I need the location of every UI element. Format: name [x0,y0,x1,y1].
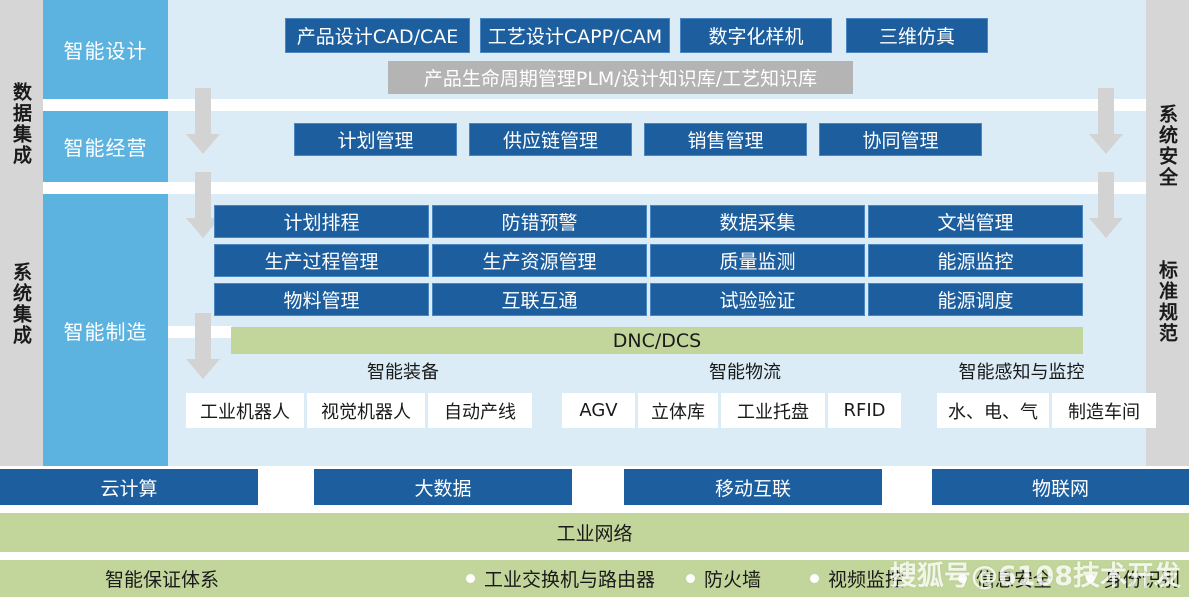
chip-rfid[interactable]: RFID [828,393,901,428]
assurance-item-switch-router-label: 工业交换机与路由器 [484,565,655,592]
bullet-dot-icon [466,574,475,583]
mfg-button-r0c2[interactable]: 数据采集 [650,205,865,238]
mfg-button-r1c1[interactable]: 生产资源管理 [432,244,647,277]
design-platform-bar[interactable]: 产品生命周期管理PLM/设计知识库/工艺知识库 [388,61,853,94]
mfg-button-r2c0-label: 物料管理 [283,286,359,313]
operation-button-sales[interactable]: 销售管理 [644,123,807,156]
mfg-button-r0c3[interactable]: 文档管理 [868,205,1083,238]
mfg-button-r1c2-label: 质量监测 [719,247,795,274]
dnc-dcs-bar-label: DNC/DCS [613,330,701,352]
chip-vision-robot[interactable]: 视觉机器人 [307,393,425,428]
infra-band-mobile-label: 移动互联 [715,474,791,501]
mfg-button-r1c0[interactable]: 生产过程管理 [214,244,429,277]
operation-button-collaboration-label: 协同管理 [862,126,938,153]
left-rail-label-data-integration: 数据集成 [8,82,35,166]
group-caption-equipment: 智能装备 [313,358,493,384]
chip-agv[interactable]: AGV [562,393,635,428]
group-caption-equipment-label: 智能装备 [367,358,439,384]
design-button-cad-label: 产品设计CAD/CAE [297,22,459,49]
chip-industrial-pallet[interactable]: 工业托盘 [721,393,825,428]
mfg-button-r2c3[interactable]: 能源调度 [868,283,1083,316]
mfg-button-r2c1[interactable]: 互联互通 [432,283,647,316]
diagram-root: 数据集成 系统集成 系统安全 标准规范 智能设计 智能经营 智能制造 [0,0,1189,597]
infra-band-bigdata[interactable]: 大数据 [314,469,572,505]
chip-rfid-label: RFID [843,400,885,421]
flow-arrow-left-3 [186,313,220,379]
bullet-dot-icon [686,574,695,583]
mfg-button-r2c1-label: 互联互通 [501,286,577,313]
network-band-label: 工业网络 [556,519,632,546]
infra-band-mobile[interactable]: 移动互联 [624,469,882,505]
watermark: 搜狐号@6108技术开发 [890,554,1181,593]
operation-button-plan[interactable]: 计划管理 [294,123,457,156]
category-label-operation: 智能经营 [64,132,148,161]
operation-button-supply-chain-label: 供应链管理 [503,126,598,153]
infra-band-bigdata-label: 大数据 [414,474,471,501]
bullet-dot-icon [810,574,819,583]
mfg-button-r0c2-label: 数据采集 [719,208,795,235]
operation-button-collaboration[interactable]: 协同管理 [819,123,982,156]
group-caption-logistics-label: 智能物流 [709,358,781,384]
flow-arrow-right-1 [1089,88,1123,154]
chip-vision-robot-label: 视觉机器人 [321,398,411,424]
infra-band-cloud-label: 云计算 [100,474,157,501]
category-tile-manufacturing[interactable]: 智能制造 [43,194,168,466]
chip-stereo-warehouse-label: 立体库 [651,398,705,424]
mfg-button-r0c1[interactable]: 防错预警 [432,205,647,238]
mfg-button-r2c2[interactable]: 试验验证 [650,283,865,316]
main-canvas: 智能设计 智能经营 智能制造 产品设计CAD/CAE 工艺设计CA [43,0,1146,466]
operation-button-supply-chain[interactable]: 供应链管理 [469,123,632,156]
right-rail-label-system-security: 系统安全 [1154,104,1181,188]
assurance-item-switch-router[interactable]: 工业交换机与路由器 [466,565,655,592]
chip-water-power-gas[interactable]: 水、电、气 [937,393,1049,428]
flow-arrow-left-1 [186,88,220,154]
category-tile-design[interactable]: 智能设计 [43,0,168,99]
assurance-item-firewall[interactable]: 防火墙 [686,565,761,592]
mfg-button-r1c0-label: 生产过程管理 [264,247,378,274]
category-label-design: 智能设计 [64,35,148,64]
mfg-button-r2c0[interactable]: 物料管理 [214,283,429,316]
infra-band-cloud[interactable]: 云计算 [0,469,258,505]
group-caption-sensing-label: 智能感知与监控 [959,358,1085,384]
mfg-button-r0c1-label: 防错预警 [501,208,577,235]
operation-button-plan-label: 计划管理 [337,126,413,153]
left-rail-label-system-integration: 系统集成 [8,262,35,346]
infra-band-iot[interactable]: 物联网 [932,469,1189,505]
category-tile-operation[interactable]: 智能经营 [43,111,168,182]
group-caption-logistics: 智能物流 [655,358,835,384]
assurance-item-firewall-label: 防火墙 [704,565,761,592]
mfg-button-r1c2[interactable]: 质量监测 [650,244,865,277]
design-button-capp-label: 工艺设计CAPP/CAM [488,22,662,49]
chip-stereo-warehouse[interactable]: 立体库 [638,393,718,428]
mfg-button-r1c3-label: 能源监控 [937,247,1013,274]
design-button-3d-simulation-label: 三维仿真 [879,22,955,49]
chip-auto-line[interactable]: 自动产线 [428,393,532,428]
operation-button-sales-label: 销售管理 [687,126,763,153]
group-caption-sensing: 智能感知与监控 [909,358,1134,384]
chip-industrial-robot[interactable]: 工业机器人 [186,393,304,428]
mfg-button-r0c3-label: 文档管理 [937,208,1013,235]
assurance-band-title: 智能保证体系 [105,565,219,592]
network-band[interactable]: 工业网络 [0,513,1189,552]
infra-band-iot-label: 物联网 [1032,474,1089,501]
mfg-button-r1c3[interactable]: 能源监控 [868,244,1083,277]
chip-industrial-robot-label: 工业机器人 [200,398,290,424]
mfg-button-r2c3-label: 能源调度 [937,286,1013,313]
chip-industrial-pallet-label: 工业托盘 [737,398,809,424]
design-button-digital-prototype-label: 数字化样机 [708,22,803,49]
mfg-button-r2c2-label: 试验验证 [719,286,795,313]
dnc-dcs-bar[interactable]: DNC/DCS [231,327,1083,354]
chip-manufacturing-workshop[interactable]: 制造车间 [1052,393,1156,428]
chip-manufacturing-workshop-label: 制造车间 [1068,398,1140,424]
flow-arrow-right-2 [1089,172,1123,238]
left-rail: 数据集成 系统集成 [0,0,43,466]
design-button-3d-simulation[interactable]: 三维仿真 [846,18,988,53]
design-button-cad[interactable]: 产品设计CAD/CAE [285,18,470,53]
mfg-button-r0c0[interactable]: 计划排程 [214,205,429,238]
chip-agv-label: AGV [579,400,617,421]
chip-water-power-gas-label: 水、电、气 [948,398,1038,424]
mfg-button-r0c0-label: 计划排程 [283,208,359,235]
design-platform-bar-label: 产品生命周期管理PLM/设计知识库/工艺知识库 [424,64,817,91]
design-button-capp[interactable]: 工艺设计CAPP/CAM [480,18,670,53]
chip-auto-line-label: 自动产线 [444,398,516,424]
mfg-button-r1c1-label: 生产资源管理 [482,247,596,274]
category-label-manufacturing: 智能制造 [64,316,148,345]
design-button-digital-prototype[interactable]: 数字化样机 [680,18,832,53]
right-rail-label-standards: 标准规范 [1154,260,1181,344]
